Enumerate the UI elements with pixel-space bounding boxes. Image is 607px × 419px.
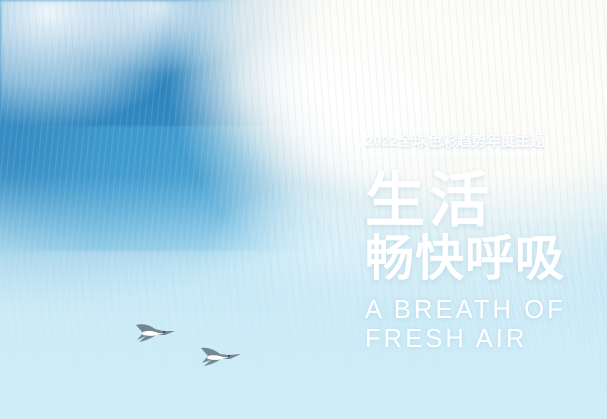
swallow-icon	[194, 343, 244, 375]
poster-headline-line2: 畅快呼吸	[365, 235, 600, 285]
poster-subtitle: 2022全球色彩趋势年度主题	[365, 133, 545, 154]
bird-left	[130, 318, 178, 352]
swallow-icon	[130, 318, 178, 352]
poster-canvas: 2022全球色彩趋势年度主题 生活 畅快呼吸 A BREATH OF FRESH…	[0, 0, 607, 419]
bird-right	[194, 343, 244, 375]
poster-english-tagline: A BREATH OF FRESH AIR	[365, 296, 600, 354]
poster-headline-line1: 生活	[365, 172, 600, 231]
headline-text-block: 2022全球色彩趋势年度主题 生活 畅快呼吸 A BREATH OF FRESH…	[365, 133, 600, 354]
